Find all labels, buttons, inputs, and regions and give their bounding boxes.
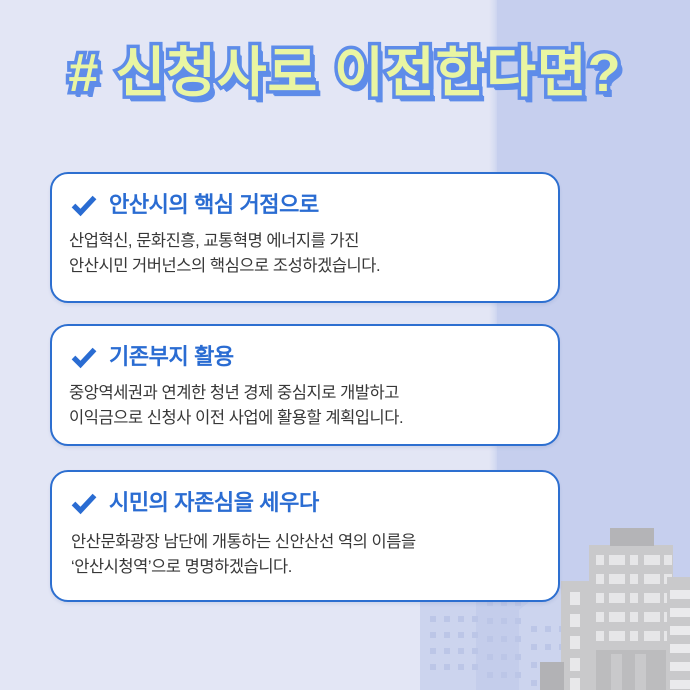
info-card-2-header: 기존부지 활용 (52, 326, 558, 370)
info-card-3-body-line-2: ‘안산시청역’으로 명명하겠습니다. (71, 555, 558, 580)
info-card-2-title: 기존부지 활용 (109, 346, 234, 368)
info-card-2-body-line-1: 중앙역세권과 연계한 청년 경제 중심지로 개발하고 (69, 381, 558, 406)
info-card-3-body: 안산문화광장 남단에 개통하는 신안산선 역의 이름을 ‘안산시청역’으로 명명… (52, 516, 558, 580)
info-card-3: 시민의 자존심을 세우다 안산문화광장 남단에 개통하는 신안산선 역의 이름을… (50, 470, 560, 602)
info-card-3-body-line-1: 안산문화광장 남단에 개통하는 신안산선 역의 이름을 (71, 530, 558, 555)
check-icon (71, 344, 97, 370)
info-card-1-body-line-2: 안산시민 거버넌스의 핵심으로 조성하겠습니다. (69, 254, 558, 279)
info-card-2-body-line-2: 이익금으로 신청사 이전 사업에 활용할 계획입니다. (69, 406, 558, 431)
info-card-2: 기존부지 활용 중앙역세권과 연계한 청년 경제 중심지로 개발하고 이익금으로… (50, 324, 560, 446)
info-card-1-title: 안산시의 핵심 거점으로 (109, 194, 319, 216)
page-title-text: # 신청사로 이전한다면? (68, 42, 621, 104)
check-icon (71, 490, 97, 516)
info-card-1-header: 안산시의 핵심 거점으로 (52, 174, 558, 218)
info-card-2-body: 중앙역세권과 연계한 청년 경제 중심지로 개발하고 이익금으로 신청사 이전 … (52, 370, 558, 431)
check-icon (71, 192, 97, 218)
info-card-1-body: 산업혁신, 문화진흥, 교통혁명 에너지를 가진 안산시민 거버넌스의 핵심으로… (52, 218, 558, 279)
infographic-card: # 신청사로 이전한다면? 안산시의 핵심 거점으로 산업혁신, 문화진흥, 교… (0, 0, 690, 690)
page-title: # 신청사로 이전한다면? (0, 42, 690, 104)
info-card-1: 안산시의 핵심 거점으로 산업혁신, 문화진흥, 교통혁명 에너지를 가진 안산… (50, 172, 560, 303)
info-card-3-title: 시민의 자존심을 세우다 (109, 492, 319, 514)
info-card-3-header: 시민의 자존심을 세우다 (52, 472, 558, 516)
info-card-1-body-line-1: 산업혁신, 문화진흥, 교통혁명 에너지를 가진 (69, 229, 558, 254)
